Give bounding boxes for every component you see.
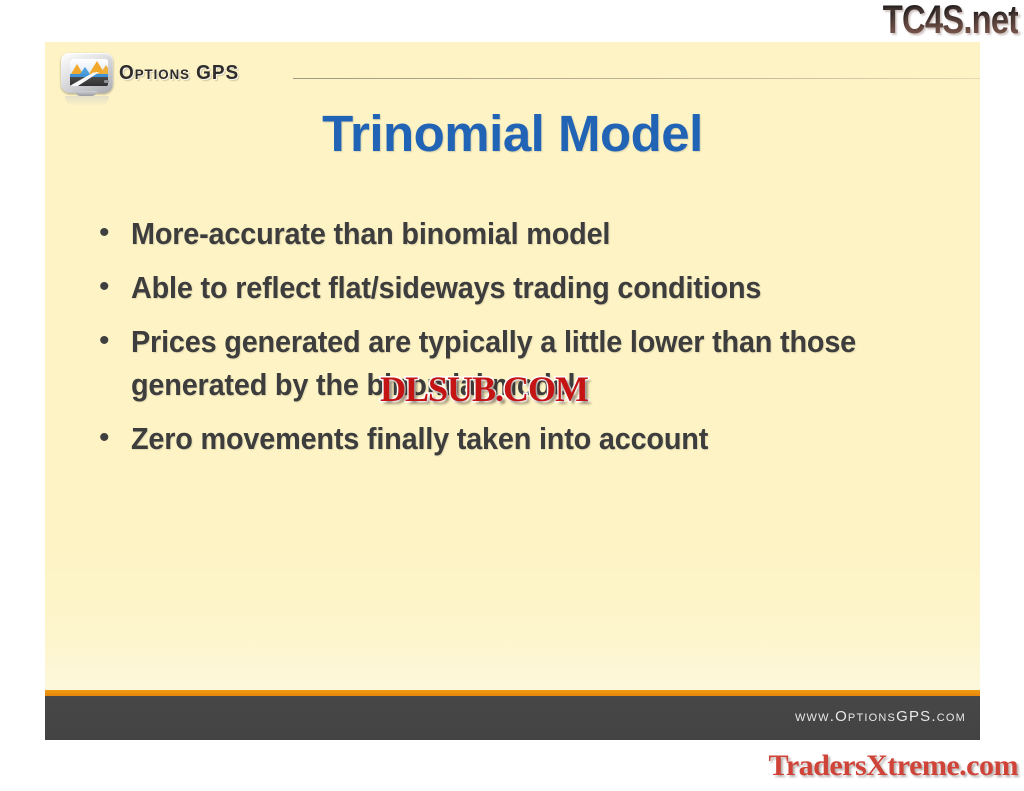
- chart-peak-4: [100, 65, 108, 74]
- dlsub-watermark: DLSUB.COM: [380, 368, 588, 410]
- slide-header: Options GPS: [45, 42, 980, 100]
- slide-footer: www.OptionsGPS.com: [45, 696, 980, 740]
- gps-device-body: [61, 53, 113, 93]
- gps-device-screen: [70, 59, 108, 86]
- brand-name: Options GPS: [119, 62, 239, 85]
- bullet-marker-icon: •: [93, 266, 131, 308]
- page-title: Trinomial Model: [45, 104, 980, 163]
- tc4s-watermark: TC4S.net: [882, 0, 1018, 43]
- gps-device-button: [104, 80, 109, 83]
- dlsub-watermark-text: DLSUB.COM: [380, 369, 588, 409]
- bullet-marker-icon: •: [93, 417, 131, 459]
- bullet-list: • More-accurate than binomial model • Ab…: [93, 212, 953, 471]
- gps-device-icon: [59, 52, 115, 100]
- footer-website-url: www.OptionsGPS.com: [795, 708, 966, 725]
- tradersxtreme-watermark: TradersXtreme.com: [769, 749, 1018, 783]
- list-item: • More-accurate than binomial model: [93, 212, 953, 255]
- header-divider: [293, 78, 980, 79]
- list-item: • Zero movements finally taken into acco…: [93, 417, 953, 460]
- bullet-marker-icon: •: [93, 320, 131, 362]
- list-item: • Able to reflect flat/sideways trading …: [93, 266, 953, 309]
- bullet-text: More-accurate than binomial model: [131, 212, 895, 255]
- bullet-marker-icon: •: [93, 212, 131, 254]
- bullet-text: Zero movements finally taken into accoun…: [131, 417, 895, 460]
- bullet-text: Able to reflect flat/sideways trading co…: [131, 266, 895, 309]
